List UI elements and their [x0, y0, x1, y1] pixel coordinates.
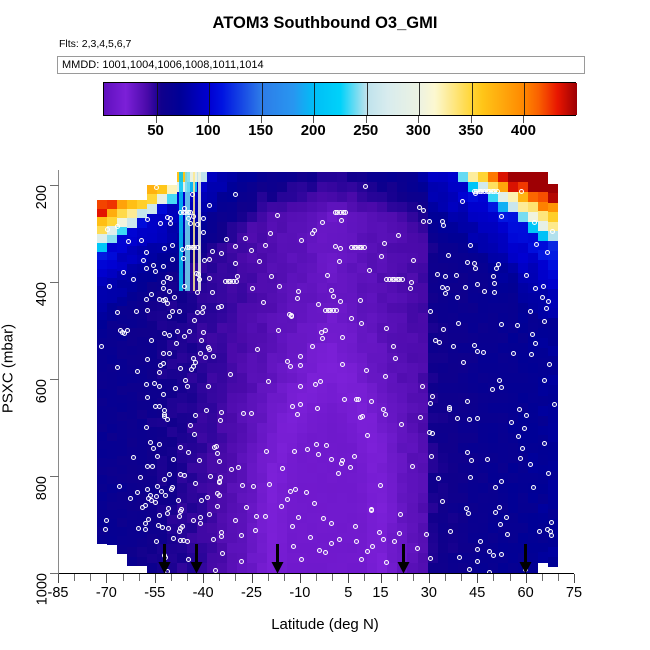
- heatmap-cell: [478, 243, 489, 254]
- x-axis-tick: [461, 574, 462, 581]
- observation-marker: [340, 362, 345, 367]
- heatmap-cell: [367, 283, 378, 294]
- heatmap-cell: [438, 563, 449, 573]
- heatmap-cell: [237, 323, 248, 334]
- heatmap-cell: [518, 233, 529, 244]
- observation-marker: [149, 292, 154, 297]
- colorbar-tick-label: 350: [458, 122, 483, 139]
- observation-marker: [415, 546, 420, 551]
- x-axis-tick-major: [58, 574, 59, 583]
- heatmap-cell: [397, 383, 408, 394]
- observation-marker: [440, 219, 445, 224]
- heatmap-cell: [428, 313, 439, 324]
- heatmap-cell: [407, 303, 418, 314]
- heatmap-cell: [257, 383, 268, 394]
- heatmap-cell: [187, 463, 198, 474]
- heatmap-cell: [267, 463, 278, 474]
- heatmap-cell: [237, 172, 248, 183]
- heatmap-cell: [518, 473, 529, 484]
- heatmap-cell: [327, 493, 338, 504]
- heatmap-cell: [327, 383, 338, 394]
- heatmap-cell: [257, 403, 268, 414]
- heatmap-cell: [478, 202, 489, 213]
- heatmap-cell: [257, 543, 268, 554]
- heatmap-cell: [377, 393, 388, 404]
- heatmap-cell: [347, 293, 358, 304]
- heatmap-cell: [347, 503, 358, 514]
- heatmap-cell: [478, 273, 489, 284]
- heatmap-cell: [478, 222, 489, 233]
- heatmap-cell: [347, 273, 358, 284]
- heatmap-cell: [438, 513, 449, 524]
- colorbar-tick-label: 400: [511, 122, 536, 139]
- heatmap-cell: [297, 503, 308, 514]
- heatmap-cell: [327, 182, 338, 193]
- observation-marker: [356, 397, 361, 402]
- heatmap-cell: [217, 423, 228, 434]
- heatmap-cell: [458, 423, 469, 434]
- heatmap-cell: [267, 172, 278, 183]
- heatmap-cell: [97, 535, 108, 544]
- heatmap-cell: [508, 543, 519, 554]
- observation-marker: [420, 384, 425, 389]
- heatmap-cell: [257, 503, 268, 514]
- observation-marker: [199, 498, 204, 503]
- heatmap-cell: [518, 463, 529, 474]
- heatmap-cell: [267, 293, 278, 304]
- observation-marker: [475, 416, 480, 421]
- heatmap-cell: [217, 263, 228, 274]
- heatmap-cell: [438, 523, 449, 534]
- observation-marker: [384, 326, 389, 331]
- heatmap-cell: [377, 463, 388, 474]
- heatmap-cell: [347, 323, 358, 334]
- heatmap-cell: [458, 303, 469, 314]
- observation-marker: [176, 498, 181, 503]
- heatmap-cell: [367, 303, 378, 314]
- heatmap-cell: [397, 293, 408, 304]
- heatmap-cell: [407, 383, 418, 394]
- heatmap-cell: [237, 493, 248, 504]
- heatmap-cell: [127, 557, 138, 567]
- heatmap-cell: [267, 263, 278, 274]
- heatmap-cell: [297, 222, 308, 233]
- heatmap-cell: [508, 513, 519, 524]
- heatmap-cell: [317, 253, 328, 264]
- observation-marker: [177, 309, 182, 314]
- heatmap-cell: [207, 463, 218, 474]
- heatmap-cell: [407, 343, 418, 354]
- heatmap-cell: [327, 563, 338, 573]
- heatmap-cell: [458, 172, 469, 183]
- observation-marker: [251, 484, 256, 489]
- observation-marker: [240, 483, 245, 488]
- observation-marker: [370, 544, 375, 549]
- heatmap-cell: [478, 373, 489, 384]
- observation-marker: [263, 514, 268, 519]
- heatmap-cell: [237, 523, 248, 534]
- heatmap-cell: [377, 493, 388, 504]
- observation-marker: [317, 548, 322, 553]
- heatmap-cell: [237, 243, 248, 254]
- heatmap-cell: [297, 423, 308, 434]
- heatmap-cell: [317, 503, 328, 514]
- heatmap-cell: [267, 253, 278, 264]
- heatmap-cell: [438, 503, 449, 514]
- heatmap-cell: [317, 313, 328, 324]
- observation-marker: [295, 296, 300, 301]
- heatmap-cell: [297, 463, 308, 474]
- heatmap-cell: [317, 483, 328, 494]
- heatmap-cell: [407, 263, 418, 274]
- observation-marker: [144, 266, 149, 271]
- heatmap-cell: [257, 172, 268, 183]
- heatmap-cell: [317, 283, 328, 294]
- heatmap-cell: [428, 182, 439, 193]
- x-axis-tick: [219, 574, 220, 581]
- observation-marker: [279, 504, 284, 509]
- observation-marker: [207, 512, 212, 517]
- heatmap-cell: [297, 563, 308, 573]
- x-axis-tick: [171, 574, 172, 581]
- heatmap-cell: [257, 202, 268, 213]
- heatmap-cell: [297, 373, 308, 384]
- heatmap-cell: [438, 373, 449, 384]
- heatmap-cell: [428, 222, 439, 233]
- heatmap-cell: [407, 313, 418, 324]
- heatmap-cell: [407, 182, 418, 193]
- heatmap-cell: [428, 202, 439, 213]
- observation-marker: [338, 299, 343, 304]
- heatmap-cell: [267, 313, 278, 324]
- heatmap-cell: [367, 353, 378, 364]
- heatmap-cell: [367, 273, 378, 284]
- heatmap-cell: [397, 323, 408, 334]
- observation-marker: [545, 250, 550, 255]
- observation-marker: [329, 541, 334, 546]
- heatmap-cell: [518, 343, 529, 354]
- heatmap-cell: [267, 283, 278, 294]
- heatmap-cell: [327, 353, 338, 364]
- heatmap-cell: [397, 222, 408, 233]
- heatmap-cell: [187, 523, 198, 534]
- observation-marker: [316, 302, 321, 307]
- heatmap-cell: [407, 533, 418, 544]
- heatmap-cell: [287, 393, 298, 404]
- heatmap-cell: [428, 233, 439, 244]
- heatmap-cell: [287, 503, 298, 514]
- heatmap-cell: [518, 283, 529, 294]
- heatmap-cell: [257, 323, 268, 334]
- heatmap-cell: [488, 202, 499, 213]
- heatmap-cell: [317, 182, 328, 193]
- observation-marker: [298, 384, 303, 389]
- heatmap-cell: [217, 463, 228, 474]
- flight-marker-arrow: [190, 544, 203, 574]
- heatmap-cell: [407, 222, 418, 233]
- heatmap-cell: [518, 202, 529, 213]
- heatmap-cell: [297, 253, 308, 264]
- heatmap-cell: [478, 172, 489, 183]
- heatmap-cell: [428, 383, 439, 394]
- x-axis-tick: [364, 574, 365, 581]
- heatmap-cell: [407, 473, 418, 484]
- observation-marker: [528, 462, 533, 467]
- colorbar-divider: [472, 83, 473, 115]
- observation-marker: [141, 258, 146, 263]
- heatmap-cell: [377, 443, 388, 454]
- observation-marker: [492, 290, 497, 295]
- heatmap-cell: [327, 373, 338, 384]
- heatmap-cell: [327, 233, 338, 244]
- heatmap-cell: [217, 323, 228, 334]
- heatmap-cell: [428, 172, 439, 183]
- observation-marker: [167, 314, 172, 319]
- observation-marker: [469, 458, 474, 463]
- heatmap-cell: [177, 393, 188, 404]
- heatmap-cell: [407, 393, 418, 404]
- heatmap-cell: [518, 243, 529, 254]
- heatmap-cell: [377, 283, 388, 294]
- heatmap-cell: [428, 283, 439, 294]
- y-axis-tick-label: 800: [34, 476, 50, 500]
- heatmap-cell: [377, 363, 388, 374]
- heatmap-cell: [397, 433, 408, 444]
- heatmap-cell: [207, 182, 218, 193]
- heatmap-cell: [407, 503, 418, 514]
- heatmap-cell: [438, 303, 449, 314]
- heatmap-cell: [508, 383, 519, 394]
- heatmap-cell: [317, 563, 328, 573]
- heatmap-cell: [347, 303, 358, 314]
- heatmap-cell: [407, 363, 418, 374]
- heatmap-cell: [508, 553, 519, 564]
- observation-marker: [397, 531, 402, 536]
- heatmap-cell: [518, 393, 529, 404]
- colorbar-divider: [524, 83, 525, 115]
- observation-marker: [504, 515, 509, 520]
- heatmap-cell: [177, 483, 188, 494]
- observation-marker: [168, 221, 173, 226]
- heatmap-cell: [267, 423, 278, 434]
- observation-marker: [339, 461, 344, 466]
- heatmap-cell: [217, 363, 228, 374]
- observation-marker: [192, 432, 197, 437]
- heatmap-cell: [488, 393, 499, 404]
- x-axis-tick-major: [252, 574, 253, 583]
- heatmap-cell: [177, 543, 188, 554]
- heatmap-cell: [458, 243, 469, 254]
- heatmap-cell: [297, 202, 308, 213]
- observation-marker: [115, 310, 120, 315]
- heatmap-cell: [257, 413, 268, 424]
- x-axis-tick: [235, 574, 236, 581]
- heatmap-cell: [217, 202, 228, 213]
- heatmap-cell: [488, 313, 499, 324]
- heatmap-cell: [207, 192, 218, 203]
- x-axis-tick-major: [300, 574, 301, 583]
- observation-marker: [154, 494, 159, 499]
- observation-marker: [171, 536, 176, 541]
- heatmap-cell: [377, 293, 388, 304]
- heatmap-cell: [317, 463, 328, 474]
- chart-canvas: ATOM3 Southbound O3_GMI Flts: 2,3,4,5,6,…: [0, 0, 650, 650]
- heatmap-cell: [177, 293, 188, 304]
- heatmap-cell: [237, 423, 248, 434]
- y-axis-tick-label: 200: [34, 185, 50, 209]
- heatmap-cell: [438, 463, 449, 474]
- heatmap-cell: [267, 383, 278, 394]
- heatmap-cell: [428, 543, 439, 554]
- observation-marker: [515, 323, 520, 328]
- heatmap-cell: [438, 243, 449, 254]
- observation-marker: [461, 360, 466, 365]
- observation-marker: [381, 407, 386, 412]
- heatmap-cell: [367, 243, 378, 254]
- heatmap-cell: [207, 363, 218, 374]
- heatmap-cell: [287, 243, 298, 254]
- heatmap-cell: [327, 323, 338, 334]
- observation-marker: [210, 290, 215, 295]
- y-axis-tick-label: 400: [34, 282, 50, 306]
- colorbar-tick-label: 300: [406, 122, 431, 139]
- heatmap-cell: [397, 473, 408, 484]
- heatmap-cell: [287, 323, 298, 334]
- heatmap-cell: [458, 533, 469, 544]
- observation-marker: [135, 369, 140, 374]
- heatmap-cell: [187, 403, 198, 414]
- heatmap-cell: [267, 513, 278, 524]
- heatmap-cell: [217, 222, 228, 233]
- heatmap-cell: [508, 393, 519, 404]
- heatmap-cell: [377, 353, 388, 364]
- heatmap-cell: [287, 533, 298, 544]
- observation-marker: [170, 309, 175, 314]
- heatmap-cell: [347, 553, 358, 564]
- heatmap-cell: [397, 373, 408, 384]
- colorbar-tick-label: 250: [353, 122, 378, 139]
- heatmap-cell: [428, 443, 439, 454]
- heatmap-cell: [317, 533, 328, 544]
- heatmap-cell: [237, 182, 248, 193]
- heatmap-cell: [458, 182, 469, 193]
- flight-marker-arrow: [519, 544, 532, 574]
- heatmap-cell: [237, 513, 248, 524]
- heatmap-cell: [237, 443, 248, 454]
- heatmap-cell: [508, 192, 519, 203]
- heatmap-cell: [257, 273, 268, 284]
- observation-marker: [465, 399, 470, 404]
- heatmap-cell: [287, 563, 298, 573]
- observation-marker: [161, 392, 166, 397]
- heatmap-cell: [488, 363, 499, 374]
- heatmap-cell: [317, 172, 328, 183]
- heatmap-cell: [267, 523, 278, 534]
- observation-marker: [492, 281, 497, 286]
- x-axis-tick-label: 75: [566, 585, 582, 601]
- heatmap-cell: [327, 553, 338, 564]
- heatmap-cell: [478, 323, 489, 334]
- heatmap-cell: [377, 192, 388, 203]
- observation-marker: [205, 495, 210, 500]
- x-axis-tick-major: [574, 574, 575, 583]
- heatmap-cell: [317, 473, 328, 484]
- heatmap-cell: [287, 463, 298, 474]
- observation-marker: [161, 280, 166, 285]
- heatmap-cell: [397, 303, 408, 314]
- observation-marker: [468, 243, 473, 248]
- observation-marker: [224, 237, 229, 242]
- heatmap-cell: [347, 202, 358, 213]
- heatmap-cell: [327, 192, 338, 203]
- heatmap-cell: [257, 463, 268, 474]
- heatmap-cell: [237, 393, 248, 404]
- observation-marker: [261, 300, 266, 305]
- heatmap-cell: [548, 557, 559, 567]
- observation-marker: [185, 539, 190, 544]
- observation-marker: [364, 368, 369, 373]
- heatmap-cell: [407, 233, 418, 244]
- heatmap-cell: [458, 233, 469, 244]
- heatmap-cell: [267, 503, 278, 514]
- observation-marker: [208, 474, 213, 479]
- heatmap-cell: [347, 283, 358, 294]
- heatmap-cell: [297, 263, 308, 274]
- observation-marker: [215, 451, 220, 456]
- heatmap-cell: [438, 202, 449, 213]
- observation-marker: [529, 352, 534, 357]
- heatmap-cell: [347, 253, 358, 264]
- observation-marker: [169, 487, 174, 492]
- observation-marker: [161, 298, 166, 303]
- heatmap-cell: [488, 353, 499, 364]
- heatmap-cell: [367, 443, 378, 454]
- heatmap-cell: [478, 263, 489, 274]
- heatmap-cell: [207, 323, 218, 334]
- observation-marker: [197, 277, 202, 282]
- observation-marker: [318, 379, 323, 384]
- heatmap-cell: [377, 383, 388, 394]
- heatmap-cell: [458, 463, 469, 474]
- heatmap-cell: [367, 383, 378, 394]
- observation-marker: [216, 305, 221, 310]
- heatmap-cell: [458, 343, 469, 354]
- heatmap-field: [58, 170, 574, 573]
- heatmap-cell: [297, 243, 308, 254]
- heatmap-cell: [327, 423, 338, 434]
- heatmap-cell: [237, 373, 248, 384]
- observation-marker: [131, 455, 136, 460]
- heatmap-cell: [397, 463, 408, 474]
- heatmap-cell: [317, 192, 328, 203]
- observation-marker: [455, 295, 460, 300]
- heatmap-cell: [237, 192, 248, 203]
- heatmap-cell: [438, 233, 449, 244]
- heatmap-cell: [407, 433, 418, 444]
- observation-marker: [199, 338, 204, 343]
- observation-marker: [190, 192, 195, 197]
- heatmap-cell: [257, 473, 268, 484]
- x-axis-tick: [123, 574, 124, 581]
- heatmap-cell: [428, 513, 439, 524]
- heatmap-cell: [508, 443, 519, 454]
- heatmap-cell: [367, 493, 378, 504]
- heatmap-cell: [237, 253, 248, 264]
- observation-marker: [128, 496, 133, 501]
- observation-marker: [167, 472, 172, 477]
- observation-marker: [377, 530, 382, 535]
- heatmap-cell: [428, 563, 439, 573]
